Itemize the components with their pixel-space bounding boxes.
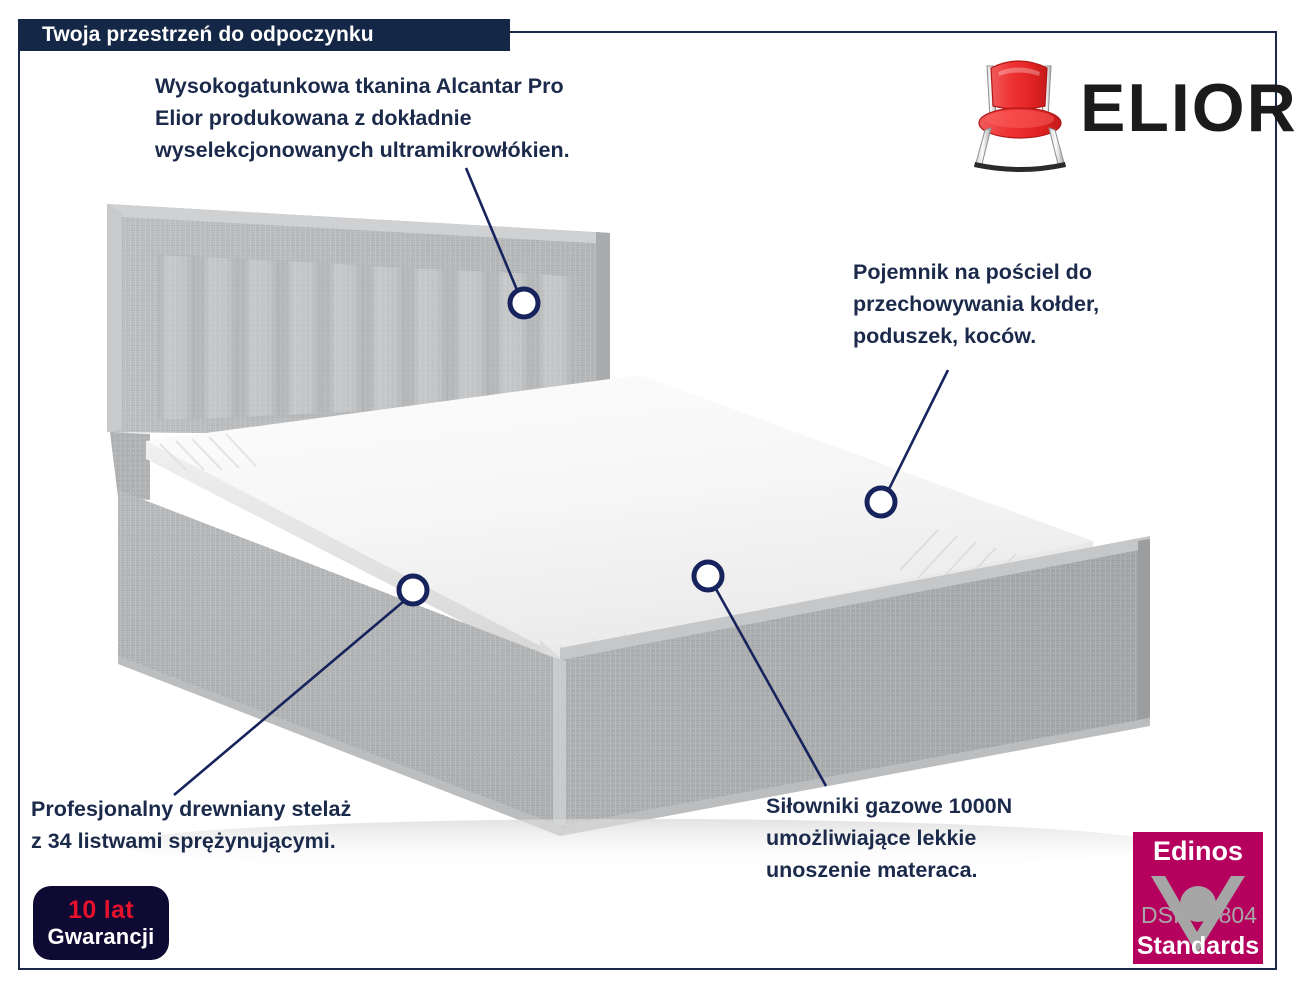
leader-line-lift xyxy=(716,589,826,786)
infographic-page: Twoja przestrzeń do odpoczynku Wysokogat… xyxy=(0,0,1300,1000)
header-ribbon: Twoja przestrzeń do odpoczynku xyxy=(18,19,510,51)
brand-logo: ELIOR xyxy=(965,48,1265,178)
callout-text-lift: Siłowniki gazowe 1000N umożliwiające lek… xyxy=(766,790,1166,886)
callout-text-storage: Pojemnik na pościel do przechowywania ko… xyxy=(853,256,1233,352)
red-chair-icon xyxy=(965,48,1075,173)
leader-line-slats xyxy=(174,601,404,795)
edinos-number: 804 xyxy=(1219,902,1257,928)
edinos-standards-label: Standards xyxy=(1133,932,1263,960)
callout-text-slats: Profesjonalny drewniany stelaż z 34 list… xyxy=(31,793,551,857)
edinos-title: Edinos xyxy=(1133,836,1263,866)
callout-dot-icon-lift[interactable] xyxy=(694,562,722,590)
warranty-years: 10 lat xyxy=(68,897,134,924)
leader-line-storage xyxy=(889,370,948,489)
edinos-dsi-code: DSI xyxy=(1141,902,1179,928)
leader-line-fabric xyxy=(466,168,517,290)
page-title: Twoja przestrzeń do odpoczynku xyxy=(42,23,374,47)
brand-name: ELIOR xyxy=(1080,72,1298,144)
callout-text-fabric: Wysokogatunkowa tkanina Alcantar Pro Eli… xyxy=(155,70,755,166)
callout-dot-icon-storage[interactable] xyxy=(867,488,895,516)
edinos-standards-badge: Edinos DSI 804 Standards xyxy=(1133,832,1263,964)
callout-dot-icon-fabric[interactable] xyxy=(510,289,538,317)
warranty-badge: 10 lat Gwarancji xyxy=(33,886,169,960)
warranty-label: Gwarancji xyxy=(48,924,155,949)
callout-dot-icon-slats[interactable] xyxy=(399,576,427,604)
